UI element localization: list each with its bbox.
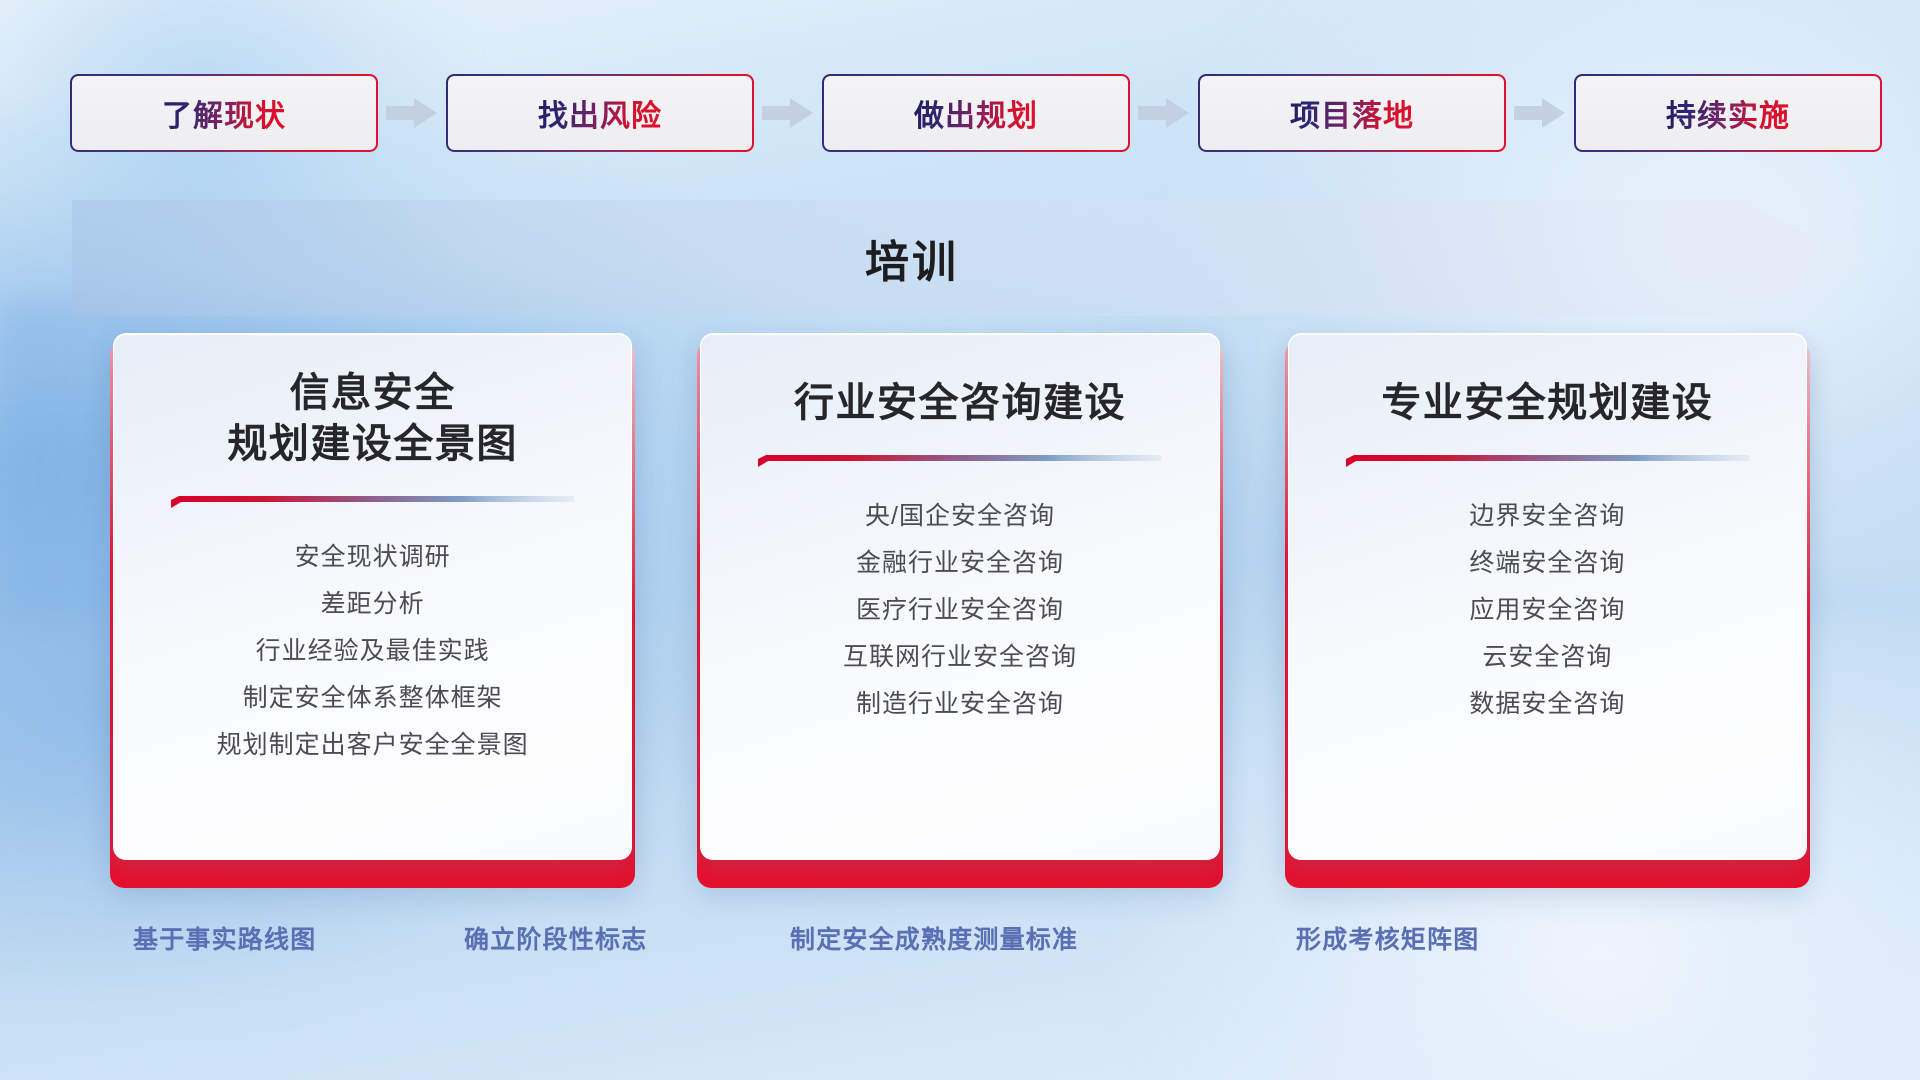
list-item: 应用安全咨询 [1469, 589, 1625, 632]
service-card-group: 信息安全 规划建设全景图 安全现状调研 [0, 333, 1920, 888]
card-item-list: 安全现状调研 差距分析 行业经验及最佳实践 制定安全体系整体框架 规划制定出客户… [114, 536, 631, 767]
step-label: 持续实施 [1666, 91, 1790, 135]
arrow-right-icon [386, 93, 438, 133]
list-item: 医疗行业安全咨询 [856, 589, 1064, 632]
card-item-list: 边界安全咨询 终端安全咨询 应用安全咨询 云安全咨询 数据安全咨询 [1289, 495, 1806, 726]
training-banner-label: 培训 [72, 200, 1752, 316]
list-item: 规划制定出客户安全全景图 [217, 724, 529, 767]
list-item: 边界安全咨询 [1469, 495, 1625, 538]
training-banner: 培训 [72, 200, 1862, 316]
card-panel: 信息安全 规划建设全景图 安全现状调研 [113, 333, 632, 860]
step-box-2[interactable]: 找出风险 [446, 74, 754, 152]
step-box-5[interactable]: 持续实施 [1574, 74, 1882, 152]
step-box-1[interactable]: 了解现状 [70, 74, 378, 152]
step-box-4[interactable]: 项目落地 [1198, 74, 1506, 152]
list-item: 终端安全咨询 [1469, 542, 1625, 585]
arrow-right-icon [1514, 93, 1566, 133]
footnote-label: 制定安全成熟度测量标准 [790, 920, 1078, 956]
footnote-label: 形成考核矩阵图 [1296, 920, 1479, 956]
card-title: 专业安全规划建设 [1381, 378, 1713, 429]
arrow-right-icon [1138, 93, 1190, 133]
list-item: 互联网行业安全咨询 [843, 636, 1077, 679]
step-label: 做出规划 [914, 91, 1038, 135]
card-title: 信息安全 规划建设全景图 [227, 368, 518, 470]
card-panel: 专业安全规划建设 边界安全咨询 [1288, 333, 1807, 860]
footnote-row: 基于事实路线图 确立阶段性标志 制定安全成熟度测量标准 形成考核矩阵图 [0, 920, 1920, 972]
card-panel: 行业安全咨询建设 央/国企安全咨询 [700, 333, 1219, 860]
list-item: 行业经验及最佳实践 [256, 630, 490, 673]
list-item: 差距分析 [321, 583, 425, 626]
step-box-3[interactable]: 做出规划 [822, 74, 1130, 152]
list-item: 央/国企安全咨询 [865, 495, 1055, 538]
step-label: 项目落地 [1290, 91, 1414, 135]
service-card[interactable]: 行业安全咨询建设 央/国企安全咨询 [697, 333, 1222, 888]
list-item: 云安全咨询 [1482, 636, 1612, 679]
footnote-label: 确立阶段性标志 [464, 920, 647, 956]
service-card[interactable]: 信息安全 规划建设全景图 安全现状调研 [110, 333, 635, 888]
card-title: 行业安全咨询建设 [794, 378, 1126, 429]
list-item: 制定安全体系整体框架 [243, 677, 503, 720]
footnote-label: 基于事实路线图 [133, 920, 316, 956]
card-divider-rule [1346, 455, 1750, 471]
process-step-flow: 了解现状 找出风险 做出规划 项目落地 持续实施 [0, 74, 1920, 152]
card-item-list: 央/国企安全咨询 金融行业安全咨询 医疗行业安全咨询 互联网行业安全咨询 制造行… [701, 495, 1218, 726]
list-item: 安全现状调研 [295, 536, 451, 579]
card-divider-rule [171, 496, 575, 512]
list-item: 金融行业安全咨询 [856, 542, 1064, 585]
step-label: 找出风险 [538, 91, 662, 135]
step-label: 了解现状 [162, 91, 286, 135]
service-card[interactable]: 专业安全规划建设 边界安全咨询 [1285, 333, 1810, 888]
card-divider-rule [758, 455, 1162, 471]
list-item: 制造行业安全咨询 [856, 683, 1064, 726]
arrow-right-icon [762, 93, 814, 133]
list-item: 数据安全咨询 [1469, 683, 1625, 726]
